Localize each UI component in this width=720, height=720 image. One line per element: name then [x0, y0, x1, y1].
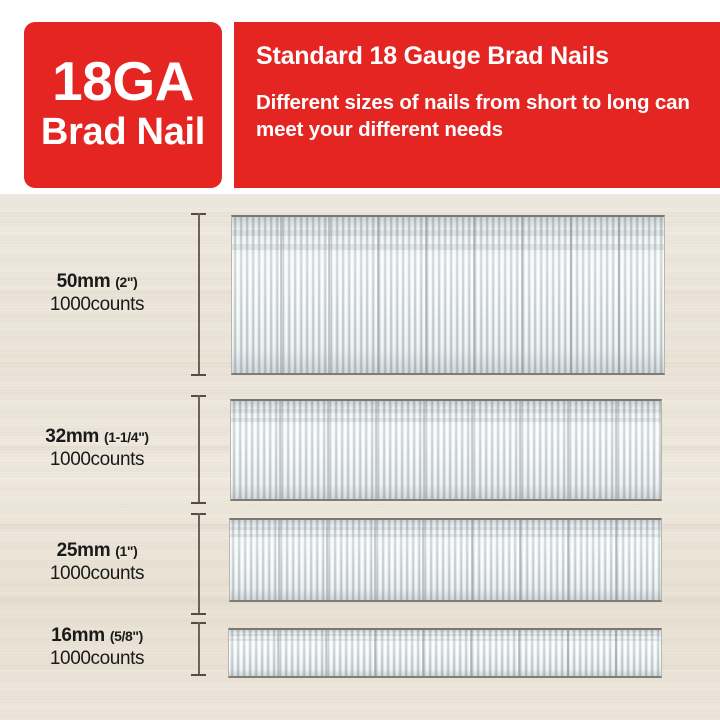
size-label-value: 16mm (5/8") — [8, 625, 186, 647]
strip-group-line — [325, 630, 327, 676]
bracket-stem — [198, 213, 200, 376]
strip-group-line — [277, 630, 279, 676]
size-label-mm: 16mm — [51, 625, 105, 646]
strip-collation-band — [231, 409, 661, 413]
strip-group-line — [327, 401, 329, 499]
strip-group-line — [328, 217, 330, 373]
size-label-counts: 1000counts — [8, 563, 186, 586]
bracket-stem — [198, 395, 200, 504]
size-label-25mm: 25mm (1") 1000counts — [8, 540, 186, 586]
strip-group-line — [518, 630, 520, 676]
strip-group-line — [471, 520, 473, 600]
strip-group-line — [519, 520, 521, 600]
strip-group-line — [470, 630, 472, 676]
size-label-inch: (2") — [115, 274, 137, 290]
strip-collation-band — [232, 230, 664, 236]
strip-group-line — [615, 401, 617, 499]
bracket-cap-bottom — [191, 502, 206, 504]
nail-strip-25mm — [229, 518, 662, 602]
gauge-badge-subtitle: Brad Nail — [41, 111, 205, 154]
strip-group-line — [519, 401, 521, 499]
strip-sheen — [229, 630, 661, 676]
gauge-badge-title: 18GA — [52, 53, 194, 109]
size-label-mm: 50mm — [57, 271, 111, 292]
size-label-50mm: 50mm (2") 1000counts — [8, 271, 186, 317]
measure-bracket-25mm — [191, 513, 206, 615]
strip-group-line — [280, 217, 282, 373]
strip-collation-band — [230, 534, 661, 537]
size-label-16mm: 16mm (5/8") 1000counts — [8, 625, 186, 671]
strip-collation-band — [229, 634, 661, 636]
headline-title: Standard 18 Gauge Brad Nails — [256, 42, 704, 71]
strip-sheen — [230, 520, 661, 600]
bracket-stem — [198, 513, 200, 615]
strip-group-line — [326, 520, 328, 600]
strip-group-line — [423, 401, 425, 499]
size-label-inch: (5/8") — [110, 628, 143, 644]
size-label-mm: 25mm — [57, 540, 111, 561]
size-label-counts: 1000counts — [8, 449, 186, 472]
bracket-cap-bottom — [191, 674, 206, 676]
strip-group-line — [471, 401, 473, 499]
strip-group-line — [422, 630, 424, 676]
strip-collation-band — [232, 244, 664, 250]
gauge-badge: 18GA Brad Nail — [24, 22, 222, 188]
bracket-stem — [198, 622, 200, 676]
nail-strip-16mm — [228, 628, 662, 678]
product-infographic: 18GA Brad Nail Standard 18 Gauge Brad Na… — [0, 0, 720, 720]
strip-group-line — [425, 217, 427, 373]
bracket-cap-bottom — [191, 613, 206, 615]
size-label-inch: (1-1/4") — [104, 429, 149, 445]
strip-group-line — [374, 520, 376, 600]
strip-group-line — [570, 217, 572, 373]
strip-group-line — [615, 520, 617, 600]
strip-group-line — [422, 520, 424, 600]
strip-group-line — [567, 401, 569, 499]
strip-collation-band — [231, 418, 661, 422]
strip-group-line — [375, 401, 377, 499]
header-banner-area: 18GA Brad Nail Standard 18 Gauge Brad Na… — [0, 0, 720, 194]
size-label-32mm: 32mm (1-1/4") 1000counts — [8, 426, 186, 472]
size-label-inch: (1") — [115, 543, 137, 559]
measure-bracket-50mm — [191, 213, 206, 376]
nail-strip-32mm — [230, 399, 662, 501]
strip-group-line — [567, 630, 569, 676]
size-label-mm: 32mm — [45, 426, 99, 447]
strip-group-line — [278, 520, 280, 600]
strip-group-line — [521, 217, 523, 373]
measure-bracket-16mm — [191, 622, 206, 676]
bracket-cap-bottom — [191, 374, 206, 376]
strip-collation-band — [230, 527, 661, 530]
strip-sheen — [232, 217, 664, 373]
size-label-value: 50mm (2") — [8, 271, 186, 293]
size-label-value: 32mm (1-1/4") — [8, 426, 186, 448]
strip-sheen — [231, 401, 661, 499]
headline-banner: Standard 18 Gauge Brad Nails Different s… — [234, 22, 720, 188]
size-label-value: 25mm (1") — [8, 540, 186, 562]
measure-bracket-32mm — [191, 395, 206, 504]
strip-group-line — [374, 630, 376, 676]
headline-subtitle: Different sizes of nails from short to l… — [256, 89, 704, 143]
size-label-counts: 1000counts — [8, 294, 186, 317]
size-label-counts: 1000counts — [8, 648, 186, 671]
strip-group-line — [473, 217, 475, 373]
strip-group-line — [615, 630, 617, 676]
strip-collation-band — [229, 639, 661, 641]
strip-group-line — [377, 217, 379, 373]
strip-group-line — [567, 520, 569, 600]
nail-strip-50mm — [231, 215, 665, 375]
strip-group-line — [618, 217, 620, 373]
strip-group-line — [279, 401, 281, 499]
